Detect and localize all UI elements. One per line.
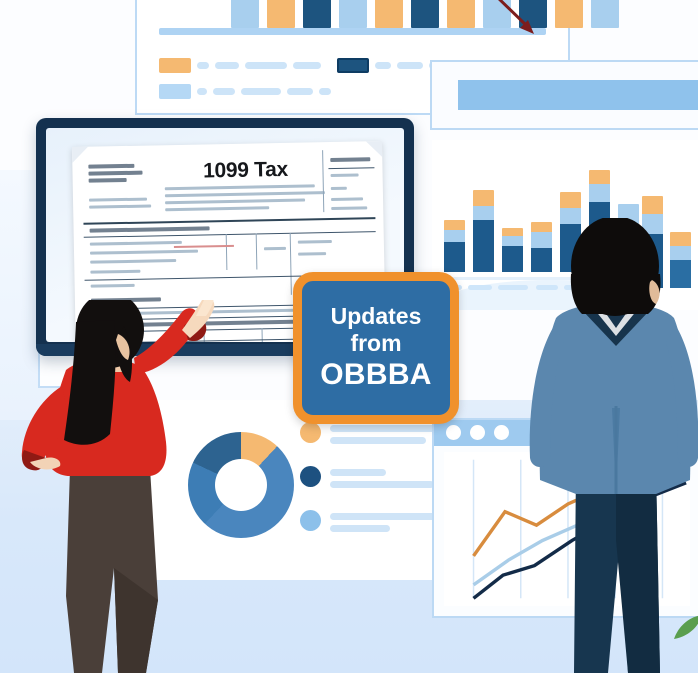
legend-item xyxy=(300,510,440,537)
figure-man-observing xyxy=(520,218,698,673)
form-rule xyxy=(328,167,374,169)
legend-text-line xyxy=(287,88,313,95)
donut-legend xyxy=(300,422,440,554)
legend-text-line xyxy=(375,62,391,69)
form-text-line xyxy=(90,270,140,274)
page-corner-fold-icon xyxy=(366,141,382,157)
legend-text-line xyxy=(245,62,287,69)
form-title: 1099 Tax xyxy=(180,157,310,183)
bar xyxy=(591,0,619,28)
bar xyxy=(447,0,475,28)
form-text-line xyxy=(165,206,269,211)
stack-segment-light xyxy=(473,206,494,220)
stack-segment-navy xyxy=(473,220,494,272)
stack-segment-light xyxy=(589,184,610,202)
stack-segment-orange xyxy=(444,220,465,230)
form-text-line xyxy=(264,247,286,250)
stack-segment-orange xyxy=(560,192,581,208)
bar xyxy=(303,0,331,28)
stack-segment-orange xyxy=(473,190,494,206)
updates-from-obbba-badge[interactable]: Updates from OBBBA xyxy=(293,272,459,424)
form-text-line xyxy=(90,259,176,264)
legend-text-line xyxy=(241,88,281,95)
stack-segment-light xyxy=(444,230,465,242)
stacked-bar xyxy=(473,190,494,272)
stack-segment-orange xyxy=(589,170,610,184)
bar xyxy=(555,0,583,28)
form-highlight-line xyxy=(174,245,234,248)
badge-line-2: from xyxy=(350,331,401,357)
legend-swatch-orange xyxy=(159,58,191,73)
legend-text-line xyxy=(197,62,209,69)
bar xyxy=(375,0,403,28)
form-text-line xyxy=(90,241,182,246)
form-divider xyxy=(256,233,258,269)
form-section-heading xyxy=(90,226,210,232)
form-divider xyxy=(290,233,292,295)
form-text-line xyxy=(298,252,326,256)
page-corner-fold-icon xyxy=(72,147,88,163)
legend-text-line xyxy=(319,88,331,95)
chart-axis-line xyxy=(159,28,546,35)
legend-text-line xyxy=(330,425,442,432)
legend-dot-orange xyxy=(300,422,321,443)
legend-text-line xyxy=(330,513,440,520)
form-divider xyxy=(322,150,324,212)
form-text-line xyxy=(331,173,359,177)
form-text-line xyxy=(331,206,367,210)
form-text-line xyxy=(165,199,305,205)
stacked-bar xyxy=(444,220,465,272)
top-bar-chart-plot xyxy=(159,0,546,35)
right-top-panel xyxy=(430,60,698,130)
bar xyxy=(339,0,367,28)
legend-dot-light xyxy=(300,510,321,531)
form-text-line xyxy=(89,198,147,202)
form-section-rule xyxy=(83,217,375,225)
form-text-line xyxy=(165,191,325,197)
form-text-line xyxy=(89,178,127,183)
legend-text-line xyxy=(293,62,321,69)
axis-tick-label xyxy=(468,285,492,290)
badge-line-1: Updates xyxy=(331,304,422,330)
legend-text-line xyxy=(330,437,426,444)
legend-dot-navy xyxy=(300,466,321,487)
legend-text-block xyxy=(330,422,442,449)
stack-segment-orange xyxy=(642,196,663,214)
legend-swatch-navy xyxy=(337,58,369,73)
illustration-scene: 1099 Tax xyxy=(0,0,698,673)
form-text-line xyxy=(330,157,370,162)
bar xyxy=(231,0,259,28)
form-text-line xyxy=(89,204,151,208)
legend-text-line xyxy=(330,481,434,488)
stack-segment-navy xyxy=(444,242,465,272)
bar xyxy=(267,0,295,28)
window-dot-icon[interactable] xyxy=(470,425,485,440)
legend-text-block xyxy=(330,466,440,493)
form-text-line xyxy=(331,187,347,190)
form-text-line xyxy=(165,184,315,190)
legend-text-line xyxy=(215,62,239,69)
legend-swatch-light xyxy=(159,84,191,99)
legend-text-line xyxy=(330,525,390,532)
form-text-line xyxy=(298,240,332,244)
chart-legend-row-2 xyxy=(159,84,331,99)
legend-text-line xyxy=(397,62,423,69)
legend-item xyxy=(300,422,440,449)
form-text-line xyxy=(88,164,134,169)
form-rule xyxy=(84,231,376,238)
badge-line-3: OBBBA xyxy=(320,358,432,393)
form-text-line xyxy=(88,171,142,176)
legend-text-line xyxy=(197,88,207,95)
legend-text-line xyxy=(330,469,386,476)
downward-trend-arrow-icon xyxy=(492,0,538,38)
form-text-line xyxy=(91,284,135,288)
window-dot-icon[interactable] xyxy=(494,425,509,440)
legend-item xyxy=(300,466,440,493)
bar xyxy=(411,0,439,28)
legend-text-line xyxy=(213,88,235,95)
form-text-line xyxy=(90,250,198,255)
form-divider xyxy=(226,234,228,270)
legend-text-block xyxy=(330,510,440,537)
form-text-line xyxy=(331,197,363,201)
window-dot-icon[interactable] xyxy=(446,425,461,440)
panel-highlight-bar xyxy=(458,80,698,110)
figure-woman-pointing xyxy=(18,300,248,673)
